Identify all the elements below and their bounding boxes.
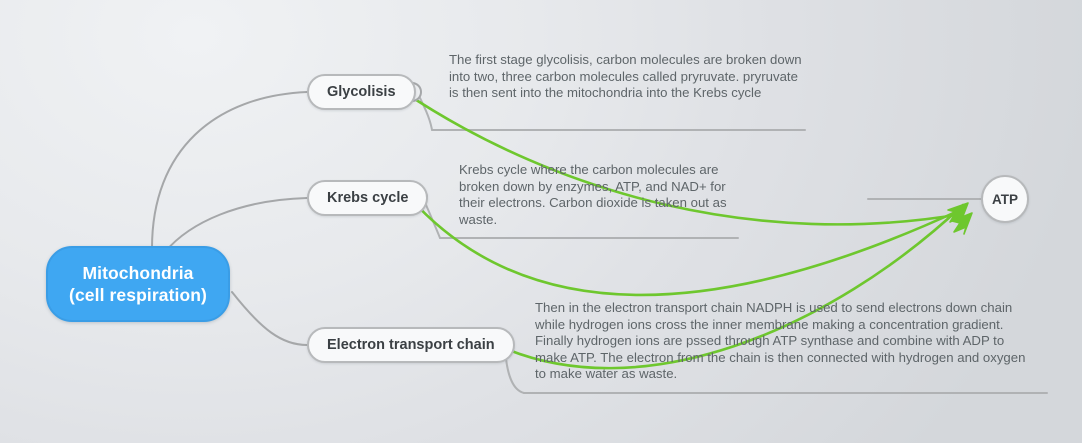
node-glycolisis-label: Glycolisis [327, 84, 396, 100]
node-atp-label: ATP [992, 192, 1018, 207]
note-electron-transport-chain[interactable]: Then in the electron transport chain NAD… [535, 300, 1035, 383]
node-electron-transport-chain[interactable]: Electron transport chain [307, 327, 515, 363]
node-krebs-cycle-label: Krebs cycle [327, 190, 408, 206]
root-node-label: Mitochondria (cell respiration) [69, 262, 207, 307]
root-node-mitochondria[interactable]: Mitochondria (cell respiration) [46, 246, 230, 322]
node-glycolisis[interactable]: Glycolisis [307, 74, 416, 110]
mindmap-canvas: .gw { fill: none; stroke: #a5a7a9; strok… [0, 0, 1082, 443]
note-glycolisis[interactable]: The first stage glycolisis, carbon molec… [449, 52, 809, 102]
node-krebs-cycle[interactable]: Krebs cycle [307, 180, 428, 216]
edge-root-to-etc [232, 292, 307, 345]
node-electron-transport-chain-label: Electron transport chain [327, 337, 495, 353]
edge-root-to-krebs [165, 198, 307, 252]
note-krebs-cycle[interactable]: Krebs cycle where the carbon molecules a… [459, 162, 749, 228]
edge-root-to-glycolisis [152, 92, 307, 248]
node-atp[interactable]: ATP [981, 175, 1029, 223]
